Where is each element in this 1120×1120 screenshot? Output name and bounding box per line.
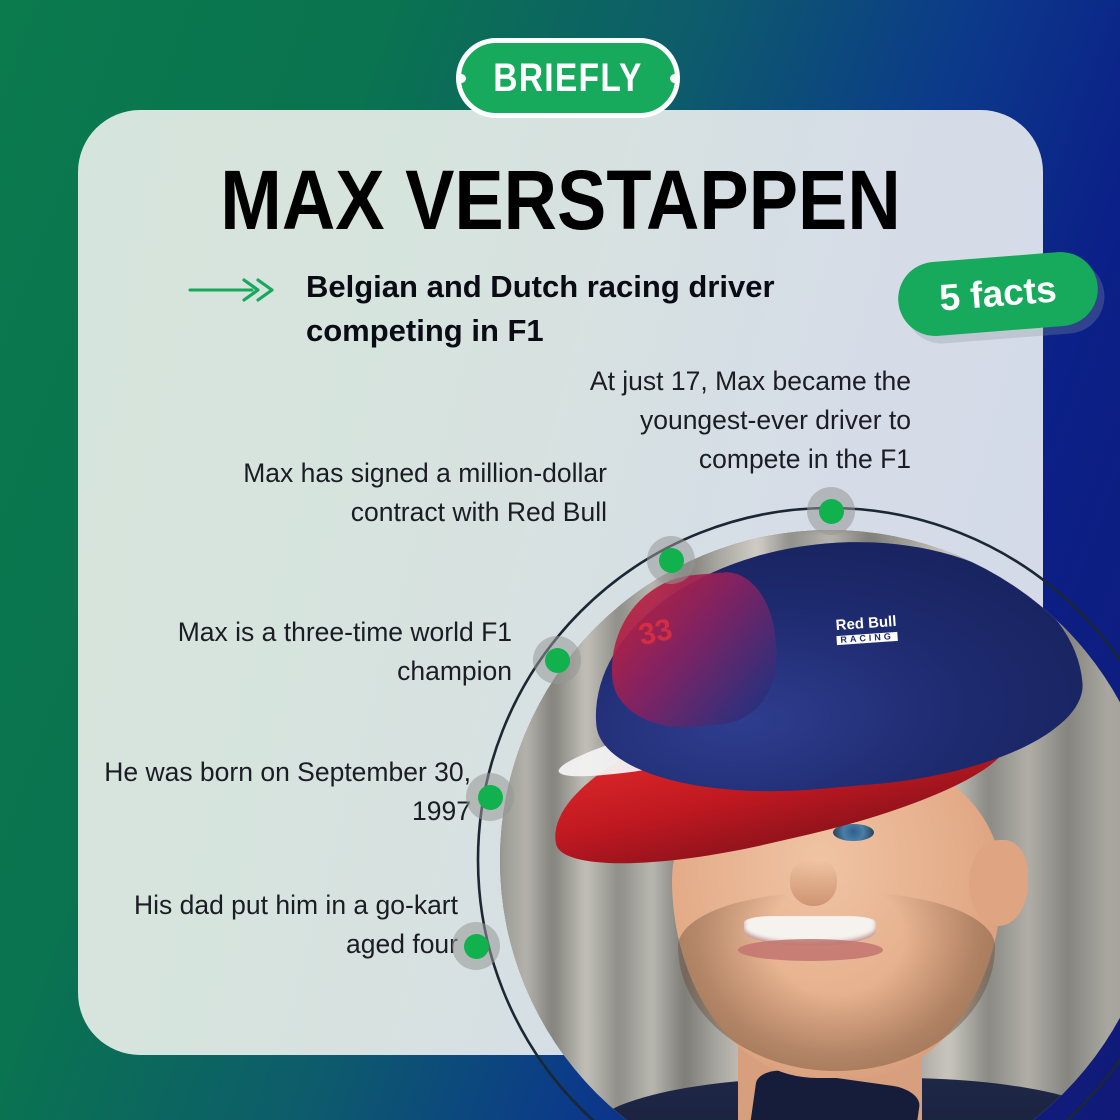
brand-left-dot-icon [457,74,466,83]
fact-marker-4[interactable] [466,773,514,821]
double-chevron-right-arrow-icon [188,275,280,310]
fact-marker-3[interactable] [533,636,581,684]
fact-text-2: Max has signed a million-dollar contract… [212,454,607,532]
fact-marker-2[interactable] [647,536,695,584]
fact-marker-dot-4 [478,785,503,810]
fact-text-4: He was born on September 30, 1997 [76,753,471,831]
subtitle-row: Belgian and Dutch racing driver competin… [188,265,888,353]
fact-text-1: At just 17, Max became the youngest-ever… [563,362,911,479]
page-subtitle: Belgian and Dutch racing driver competin… [306,265,888,353]
facts-count-badge: 5 facts [895,249,1100,338]
fact-marker-dot-2 [659,548,684,573]
fact-marker-1[interactable] [807,487,855,535]
infographic-canvas: BRIEFLY MAX VERSTAPPEN Belgian and Dutch… [0,0,1120,1120]
fact-marker-dot-5 [464,934,489,959]
polo-shirt-overflow [586,1078,1120,1120]
brand-right-dot-icon [670,74,679,83]
fact-marker-5[interactable] [452,922,500,970]
fact-text-3: Max is a three-time world F1 champion [144,613,512,691]
page-title: MAX VERSTAPPEN [136,158,985,242]
fact-text-5: His dad put him in a go-kart aged four [98,886,458,964]
fact-marker-dot-1 [819,499,844,524]
fact-marker-dot-3 [545,648,570,673]
brand-logo-label: BRIEFLY [493,58,642,98]
brand-logo-briefly[interactable]: BRIEFLY [456,38,680,118]
shirt-collar-overflow [745,1067,921,1120]
